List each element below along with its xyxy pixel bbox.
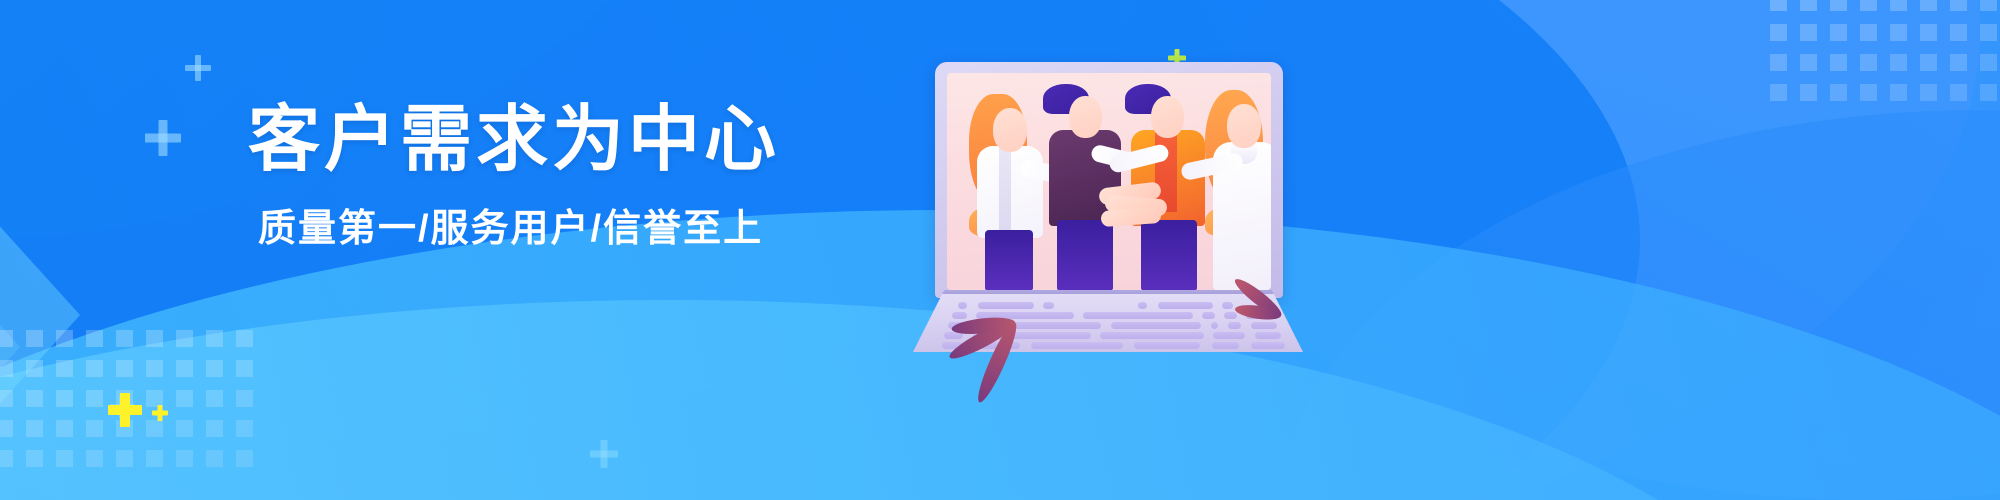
lapel	[999, 148, 1011, 234]
dot-cell	[1830, 24, 1847, 41]
legs	[985, 230, 1033, 290]
keyboard-key	[1043, 302, 1054, 309]
keyboard-key	[1031, 342, 1122, 349]
dot-cell	[146, 330, 163, 347]
dot-cell	[146, 450, 163, 467]
dot-cell	[1800, 24, 1817, 41]
dot-cell	[56, 420, 73, 437]
head	[1151, 96, 1184, 138]
dot-cell	[236, 330, 253, 347]
promo-banner: 客户需求为中心 质量第一/服务用户/信誉至上	[0, 0, 2000, 500]
banner-copy: 客户需求为中心 质量第一/服务用户/信誉至上	[248, 104, 868, 248]
dot-cell	[1890, 24, 1907, 41]
dot-cell	[56, 390, 73, 407]
laptop-screen	[947, 73, 1271, 290]
dot-cell	[1860, 24, 1877, 41]
dot-cell	[116, 390, 133, 407]
laptop-teamwork-illustration	[913, 62, 1303, 352]
keyboard-key	[1111, 322, 1202, 329]
keyboard-key	[1224, 312, 1237, 319]
keyboard-key	[1083, 312, 1192, 319]
keyboard-key	[1158, 302, 1213, 309]
dot-cell	[146, 420, 163, 437]
dot-cell	[116, 450, 133, 467]
dot-cell	[206, 360, 223, 377]
dot-cell	[86, 420, 103, 437]
keyboard-key	[1100, 332, 1203, 339]
dot-cell	[176, 390, 193, 407]
dot-cell	[26, 420, 43, 437]
dot-cell	[116, 420, 133, 437]
plus-icon-yellow-small-left	[152, 405, 168, 421]
dot-cell	[146, 390, 163, 407]
plus-icon-yellow-large-left	[108, 393, 142, 427]
dot-cell	[0, 450, 13, 467]
dot-cell	[206, 420, 223, 437]
dot-cell	[206, 390, 223, 407]
dot-cell	[1980, 84, 1997, 101]
background-wave-4	[0, 0, 1640, 500]
dot-cell	[26, 390, 43, 407]
keyboard-key	[1213, 332, 1245, 339]
dot-cell	[86, 330, 103, 347]
dot-cell	[1950, 84, 1967, 101]
dot-cell	[1800, 0, 1817, 11]
head	[1069, 96, 1102, 138]
dot-cell	[1770, 84, 1787, 101]
head	[1227, 104, 1261, 148]
dot-cell	[1950, 54, 1967, 71]
head	[993, 108, 1027, 152]
dot-cell	[236, 390, 253, 407]
dot-cell	[1770, 0, 1787, 11]
keyboard-key	[1211, 322, 1219, 329]
dot-cell	[1890, 54, 1907, 71]
dot-cell	[1950, 0, 1967, 11]
dot-cell	[26, 450, 43, 467]
keyboard-key	[1138, 302, 1147, 309]
banner-headline: 客户需求为中心	[248, 104, 868, 176]
dot-cell	[1800, 54, 1817, 71]
keyboard-key	[1251, 342, 1285, 349]
plus-icon-soft-3	[110, 395, 134, 419]
dot-cell	[86, 360, 103, 377]
dot-cell	[1830, 0, 1847, 11]
plus-icon-soft-1	[185, 55, 211, 81]
dot-cell	[1860, 0, 1877, 11]
dot-cell	[116, 330, 133, 347]
dot-cell	[1920, 84, 1937, 101]
keyboard-key	[1212, 342, 1239, 349]
dot-cell	[1800, 84, 1817, 101]
leaf-frond-icon-left	[869, 224, 989, 334]
dot-cell	[176, 450, 193, 467]
dot-cell	[26, 360, 43, 377]
background-wave-right-2	[1280, 110, 2000, 500]
dot-cell	[1830, 84, 1847, 101]
dot-cell	[1770, 24, 1787, 41]
keyboard-key	[1228, 322, 1241, 329]
dot-cell	[1860, 84, 1877, 101]
dot-cell	[146, 360, 163, 377]
dot-cell	[1980, 24, 1997, 41]
dot-cell	[1950, 24, 1967, 41]
dot-cell	[56, 450, 73, 467]
hand-3	[1101, 207, 1162, 227]
chevron-shape-2	[0, 203, 20, 491]
keyboard-key	[1202, 312, 1215, 319]
dot-cell	[1980, 0, 1997, 11]
stacked-hands	[1097, 181, 1175, 231]
dot-cell	[56, 360, 73, 377]
dot-cell	[206, 450, 223, 467]
chevron-shape-1	[0, 171, 80, 459]
dot-cell	[1920, 24, 1937, 41]
dot-cell	[1890, 0, 1907, 11]
plus-icon-soft-4	[590, 440, 618, 468]
dot-cell	[1890, 84, 1907, 101]
dot-cell	[176, 360, 193, 377]
keyboard-key	[1134, 342, 1200, 349]
dot-cell	[0, 360, 13, 377]
dot-cell	[56, 330, 73, 347]
banner-subheadline: 质量第一/服务用户/信誉至上	[258, 210, 868, 248]
dot-cell	[0, 390, 13, 407]
dot-cell	[176, 330, 193, 347]
dot-cell	[1770, 54, 1787, 71]
leaf-frond-icon-right	[1247, 244, 1337, 324]
dot-cell	[236, 450, 253, 467]
keyboard-key	[1255, 332, 1281, 339]
dot-cell	[236, 360, 253, 377]
dot-cell	[206, 330, 223, 347]
dot-cell	[1980, 54, 1997, 71]
dot-cell	[176, 420, 193, 437]
dot-cell	[1860, 54, 1877, 71]
dot-cell	[1830, 54, 1847, 71]
dot-cell	[0, 330, 13, 347]
dot-cell	[236, 420, 253, 437]
dot-cell	[86, 450, 103, 467]
dot-cell	[0, 420, 13, 437]
dot-cell	[116, 360, 133, 377]
dot-cell	[1920, 54, 1937, 71]
keyboard-key	[1222, 302, 1233, 309]
dot-cell	[86, 390, 103, 407]
dot-cell	[1920, 0, 1937, 11]
plus-icon-soft-2	[145, 120, 181, 156]
dot-cell	[26, 330, 43, 347]
